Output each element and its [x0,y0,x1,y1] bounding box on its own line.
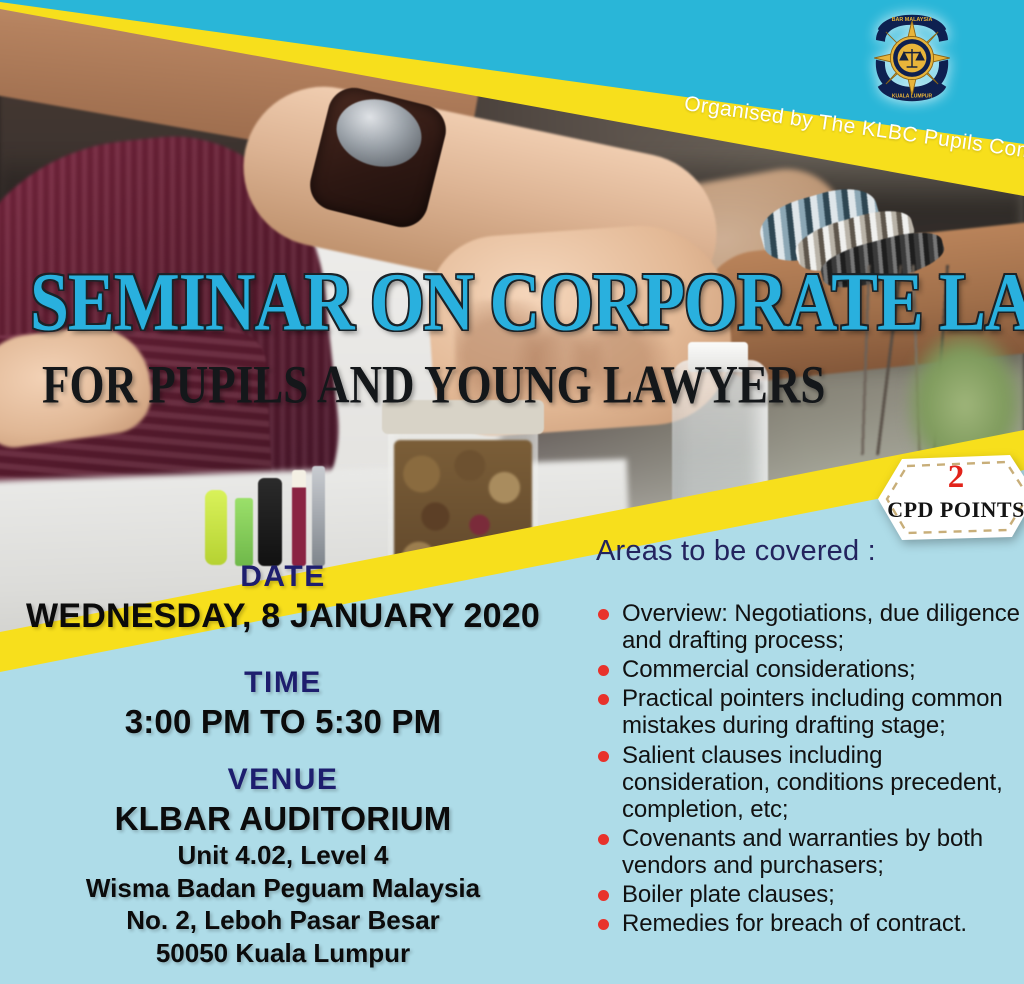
bullet-dot-icon [598,834,609,845]
cpd-points-label: CPD POINTS [876,497,1024,523]
bullet-dot-icon [598,665,609,676]
areas-title: Areas to be covered : [596,535,1024,568]
date-value: WEDNESDAY, 8 JANUARY 2020 [0,597,566,636]
areas-list-item: Boiler plate clauses; [596,881,1024,908]
bullet-dot-icon [598,890,609,901]
date-label: DATE [0,560,566,594]
venue-address-line: 50050 Kuala Lumpur [0,938,566,969]
bullet-dot-icon [598,919,609,930]
seminar-poster: Organised by The KLBC Pupils Committee [0,0,1024,984]
areas-list-item: Overview: Negotiations, due diligence an… [596,600,1024,654]
venue-address-line: Unit 4.02, Level 4 [0,840,566,871]
areas-list: Overview: Negotiations, due diligence an… [596,600,1024,937]
areas-list-item: Salient clauses including consideration,… [596,742,1024,823]
time-value: 3:00 PM TO 5:30 PM [0,703,566,741]
venue-name: KLBAR AUDITORIUM [0,800,566,838]
event-details: DATE WEDNESDAY, 8 JANUARY 2020 TIME 3:00… [0,560,566,969]
areas-list-item-text: Salient clauses including consideration,… [622,742,1003,823]
venue-label: VENUE [0,763,566,797]
areas-list-item-text: Commercial considerations; [622,656,916,683]
areas-list-item-text: Practical pointers including common mist… [622,685,1003,739]
venue-address: Unit 4.02, Level 4Wisma Badan Peguam Mal… [0,840,566,969]
areas-list-item-text: Remedies for breach of contract. [622,910,967,937]
bullet-dot-icon [598,751,609,762]
bullet-dot-icon [598,609,609,620]
logo-bottom-text: KUALA LUMPUR [892,94,933,100]
areas-list-item-text: Overview: Negotiations, due diligence an… [622,600,1020,654]
bullet-dot-icon [598,694,609,705]
poster-title: SEMINAR ON CORPORATE LAW [30,262,1020,345]
logo-top-text: BAR MALAYSIA [892,17,933,23]
photo-highlighter-green [235,498,253,566]
spacer [0,636,566,666]
areas-list-item-text: Covenants and warranties by both vendors… [622,825,983,879]
photo-pen-silver [312,466,325,566]
areas-list-item: Remedies for breach of contract. [596,910,1024,937]
areas-list-item: Covenants and warranties by both vendors… [596,825,1024,879]
areas-to-be-covered: Areas to be covered : Overview: Negotiat… [596,535,1024,939]
areas-list-item: Commercial considerations; [596,656,1024,683]
photo-marker-black [258,478,282,566]
spacer [0,741,566,763]
venue-address-line: Wisma Badan Peguam Malaysia [0,873,566,904]
venue-address-line: No. 2, Leboh Pasar Besar [0,905,566,936]
poster-subtitle: FOR PUPILS AND YOUNG LAWYERS [42,358,942,412]
time-label: TIME [0,666,566,700]
areas-list-item: Practical pointers including common mist… [596,685,1024,739]
cpd-points-badge: 2 CPD POINTS [876,455,1024,540]
photo-highlighter-yellow [205,490,227,565]
bar-malaysia-logo: BAR MALAYSIA KUALA LUMPUR [867,12,957,104]
cpd-points-number: 2 [876,461,1024,494]
areas-list-item-text: Boiler plate clauses; [622,881,835,908]
photo-pen-maroon [292,470,306,566]
